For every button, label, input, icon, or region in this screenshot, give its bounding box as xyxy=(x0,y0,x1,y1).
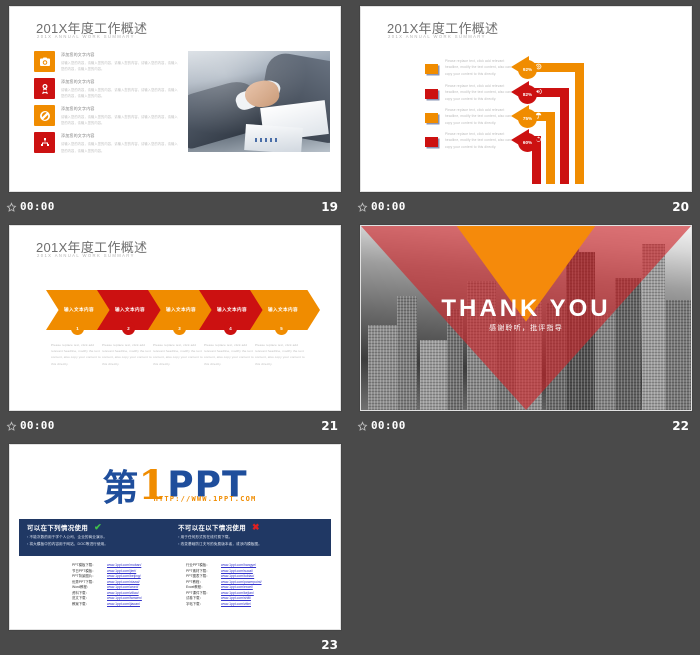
list-item-heading: 添加您的文字内容 xyxy=(61,52,179,58)
links-column-right: 行业PPT模板：www.1ppt.com/hangye/ PPT素材下载：www… xyxy=(186,563,262,607)
slide-footer: 00:00 22 xyxy=(351,415,699,437)
percent-badge: 82% xyxy=(518,85,537,104)
check-icon: ✔ xyxy=(94,523,102,532)
link-item[interactable]: 字帖下载：www.1ppt.com/zitie/ xyxy=(186,602,262,608)
star-icon xyxy=(357,421,368,432)
step-label: 输入文本内容 xyxy=(268,307,298,313)
slide-frame-20[interactable]: 201X年度工作概述 201X ANNUAL WORK SUMMARY xyxy=(360,6,692,192)
slide-footer: 23 xyxy=(0,634,348,655)
list-item[interactable]: 添加您的文字内容 请输入您的内容，请输入您的内容，请输入您的内容，请输入您的内容… xyxy=(34,105,179,126)
logo-url: HTTP://WWW.1PPT.COM xyxy=(10,495,340,503)
stat-text: Please replace text, click add relevant … xyxy=(445,131,517,150)
denied-item: 用于任何形式的在线付费下载。 xyxy=(178,535,325,540)
list-item-heading: 添加您的文字内容 xyxy=(61,106,179,112)
network-icon xyxy=(34,132,55,153)
step-label: 输入文本内容 xyxy=(64,307,94,313)
step-description: Please replace text, click add relevant … xyxy=(102,342,155,367)
denied-usage-column: 不可以在以下情况使用 ✖ 用于任何形式的在线付费下载。 改变基础防江夫写的免费版… xyxy=(178,523,325,547)
allowed-item: 不能次数的用于学个人公司、企业的商业演示。 xyxy=(27,535,174,540)
step-number: 1 xyxy=(71,322,84,335)
list-item-body: 请输入您的内容，请输入您的内容，请输入您的内容，请输入您的内容，请输入您的内容，… xyxy=(61,141,179,153)
first-ppt-logo: 第1PPT xyxy=(10,459,340,511)
feature-list: 添加您的文字内容 请输入您的内容，请输入您的内容，请输入您的内容，请输入您的内容… xyxy=(34,51,179,160)
step-description: Please replace text, click add relevant … xyxy=(153,342,206,367)
percent-badge: 75% xyxy=(518,109,537,128)
usage-terms-band: 可以在下列情况使用 ✔ 不能次数的用于学个人公司、企业的商业演示。 将大模板中的… xyxy=(19,519,331,556)
process-chevron-diagram: 输入文本内容 输入文本内容 输入文本内容 输入文本内容 输入文本内容 1 2 3… xyxy=(10,226,340,410)
link-url[interactable]: www.1ppt.com/zitie/ xyxy=(221,602,251,608)
page-number: 23 xyxy=(321,634,338,655)
step-label: 输入文本内容 xyxy=(217,307,247,313)
links-column-left: PPT模板下载：www.1ppt.com/moban/ 节日PPT模板：www.… xyxy=(72,563,142,607)
link-label: 教案下载： xyxy=(72,602,104,608)
denied-item: 改变基础防江夫写的免费版本者，或涉内模板图。 xyxy=(178,542,325,547)
bullet-square xyxy=(425,137,438,147)
allowed-item: 将大模板中的内容用于网站、DOC等进行使用。 xyxy=(27,542,174,547)
slide-cell-19[interactable]: 201X年度工作概述 201X ANNUAL WORK SUMMARY 添加您的… xyxy=(0,0,348,218)
stat-row[interactable]: Please replace text, click add relevant … xyxy=(361,132,691,158)
list-item-body: 请输入您的内容，请输入您的内容，请输入您的内容，请输入您的内容，请输入您的内容，… xyxy=(61,60,179,72)
slide-cell-20[interactable]: 201X年度工作概述 201X ANNUAL WORK SUMMARY xyxy=(351,0,699,218)
globe-icon xyxy=(34,105,55,126)
denied-heading: 不可以在以下情况使用 xyxy=(178,523,246,532)
stat-text: Please replace text, click add relevant … xyxy=(445,107,517,126)
step-label: 输入文本内容 xyxy=(115,307,145,313)
link-item[interactable]: 教案下载：www.1ppt.com/jiaoan/ xyxy=(72,602,142,608)
allowed-usage-column: 可以在下列情况使用 ✔ 不能次数的用于学个人公司、企业的商业演示。 将大模板中的… xyxy=(27,523,174,547)
denied-heading-row: 不可以在以下情况使用 ✖ xyxy=(178,523,325,532)
step-description: Please replace text, click add relevant … xyxy=(51,342,104,367)
slide-frame-19[interactable]: 201X年度工作概述 201X ANNUAL WORK SUMMARY 添加您的… xyxy=(9,6,341,192)
slide-footer: 00:00 19 xyxy=(0,196,348,218)
page-number: 21 xyxy=(321,415,338,437)
list-item[interactable]: 添加您的文字内容 请输入您的内容，请输入您的内容，请输入您的内容，请输入您的内容… xyxy=(34,78,179,99)
medal-icon xyxy=(34,78,55,99)
slide-frame-23[interactable]: 第1PPT HTTP://WWW.1PPT.COM 可以在下列情况使用 ✔ 不能… xyxy=(9,444,341,630)
list-item-body: 请输入您的内容，请输入您的内容，请输入您的内容，请输入您的内容，请输入您的内容，… xyxy=(61,87,179,99)
slide-cell-21[interactable]: 201X年度工作概述 201X ANNUAL WORK SUMMARY 输入文本… xyxy=(0,219,348,437)
thank-you-subtitle: 感谢聆听，批评指导 xyxy=(361,323,691,333)
page-number: 20 xyxy=(672,196,689,218)
timer-label: 00:00 xyxy=(20,196,55,218)
slide-cell-22[interactable]: THANK YOU 感谢聆听，批评指导 00:00 22 xyxy=(351,219,699,437)
step-number: 5 xyxy=(275,322,288,335)
thank-you-title: THANK YOU xyxy=(361,295,691,323)
page-number: 22 xyxy=(672,415,689,437)
percent-arrow-diagram: Please replace text, click add relevant … xyxy=(361,7,691,191)
link-label: 字帖下载： xyxy=(186,602,218,608)
stat-row[interactable]: Please replace text, click add relevant … xyxy=(361,84,691,110)
bullet-square xyxy=(425,89,438,99)
slide-footer: 00:00 20 xyxy=(351,196,699,218)
step-description: Please replace text, click add relevant … xyxy=(255,342,308,367)
bullet-square xyxy=(425,113,438,123)
list-item[interactable]: 添加您的文字内容 请输入您的内容，请输入您的内容，请输入您的内容，请输入您的内容… xyxy=(34,132,179,153)
credits-slide: 第1PPT HTTP://WWW.1PPT.COM 可以在下列情况使用 ✔ 不能… xyxy=(10,445,340,629)
list-item-body: 请输入您的内容，请输入您的内容，请输入您的内容，请输入您的内容，请输入您的内容，… xyxy=(61,114,179,126)
list-item[interactable]: 添加您的文字内容 请输入您的内容，请输入您的内容，请输入您的内容，请输入您的内容… xyxy=(34,51,179,72)
list-item-heading: 添加您的文字内容 xyxy=(61,133,179,139)
allowed-heading-row: 可以在下列情况使用 ✔ xyxy=(27,523,174,532)
step-label: 输入文本内容 xyxy=(166,307,196,313)
stat-text: Please replace text, click add relevant … xyxy=(445,83,517,102)
allowed-heading: 可以在下列情况使用 xyxy=(27,523,88,532)
page-number: 19 xyxy=(321,196,338,218)
percent-badge: 60% xyxy=(518,133,537,152)
step-number: 2 xyxy=(122,322,135,335)
slide-footer: 00:00 21 xyxy=(0,415,348,437)
percent-badge: 92% xyxy=(518,60,537,79)
star-icon xyxy=(6,421,17,432)
business-handshake-photo xyxy=(188,51,330,152)
step-number: 4 xyxy=(224,322,237,335)
star-icon xyxy=(357,202,368,213)
timer-label: 00:00 xyxy=(20,415,55,437)
camera-icon xyxy=(34,51,55,72)
page-subtitle: 201X ANNUAL WORK SUMMARY xyxy=(37,34,135,39)
cross-icon: ✖ xyxy=(252,523,260,532)
star-icon xyxy=(6,202,17,213)
slide-cell-23[interactable]: 第1PPT HTTP://WWW.1PPT.COM 可以在下列情况使用 ✔ 不能… xyxy=(0,438,348,655)
list-item-heading: 添加您的文字内容 xyxy=(61,79,179,85)
stat-text: Please replace text, click add relevant … xyxy=(445,58,517,77)
link-url[interactable]: www.1ppt.com/jiaoan/ xyxy=(107,602,140,608)
slide-frame-21[interactable]: 201X年度工作概述 201X ANNUAL WORK SUMMARY 输入文本… xyxy=(9,225,341,411)
stat-row[interactable]: Please replace text, click add relevant … xyxy=(361,59,691,85)
slide-frame-22[interactable]: THANK YOU 感谢聆听，批评指导 xyxy=(360,225,692,411)
step-number: 3 xyxy=(173,322,186,335)
stat-row[interactable]: Please replace text, click add relevant … xyxy=(361,108,691,134)
timer-label: 00:00 xyxy=(371,415,406,437)
step-description: Please replace text, click add relevant … xyxy=(204,342,257,367)
timer-label: 00:00 xyxy=(371,196,406,218)
thank-you-slide: THANK YOU 感谢聆听，批评指导 xyxy=(361,226,691,410)
bullet-square xyxy=(425,64,438,74)
slide-thumbnail-grid: 201X年度工作概述 201X ANNUAL WORK SUMMARY 添加您的… xyxy=(0,0,700,655)
